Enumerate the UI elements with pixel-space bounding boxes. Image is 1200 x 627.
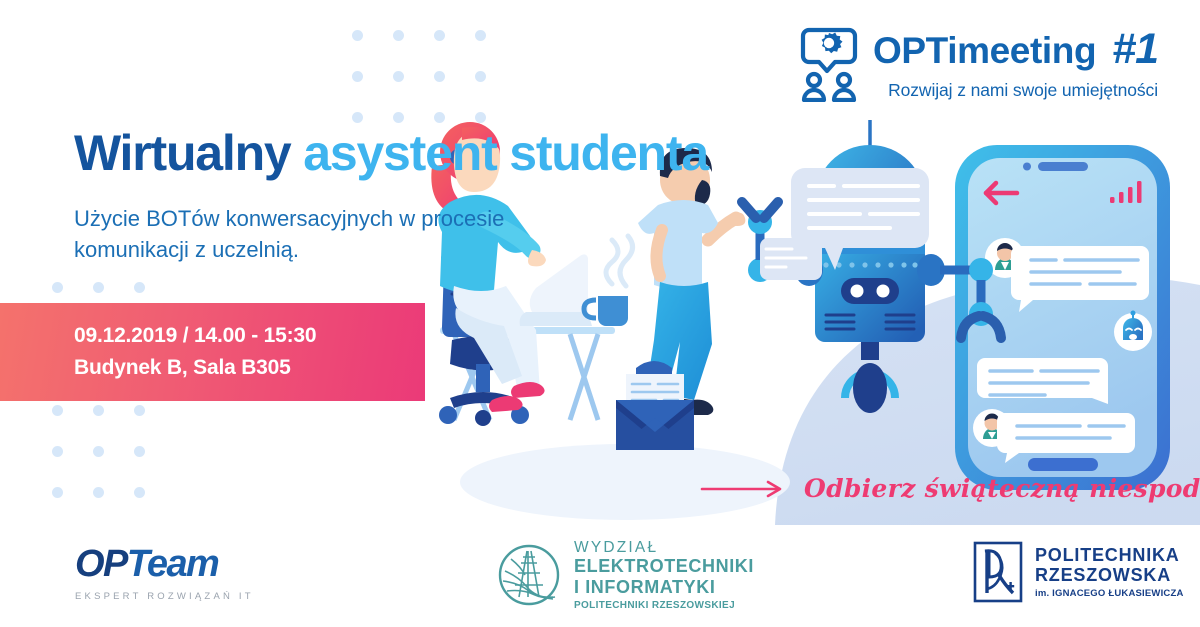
promo-note: Odbierz świąteczną niespodziankę [700, 474, 1200, 503]
subtitle: Użycie BOTów konwersacyjnych w procesie … [74, 203, 594, 265]
decor-dot [475, 30, 486, 41]
decor-dot [52, 405, 63, 416]
decor-dot [134, 446, 145, 457]
faculty-logo: WYDZIAŁ ELEKTROTECHNIKI I INFORMATYKI PO… [497, 539, 754, 611]
opteam-wordmark: OPTeam [75, 545, 256, 583]
decor-dot [393, 30, 404, 41]
faculty-line-1: WYDZIAŁ [574, 539, 754, 556]
brand-tagline: Rozwijaj z nami swoje umiejętności [873, 80, 1158, 101]
right-arrow-icon [700, 479, 788, 499]
event-datetime: 09.12.2019 / 14.00 - 15:30 [74, 320, 425, 352]
decor-dot [93, 405, 104, 416]
header-badge: OPTimeeting #1 Rozwijaj z nami swoje umi… [799, 22, 1158, 102]
event-poster: OPTimeeting #1 Rozwijaj z nami swoje umi… [0, 0, 1200, 627]
decor-dot [52, 282, 63, 293]
chat-bubble-outgoing [977, 358, 1108, 404]
faculty-text-block: WYDZIAŁ ELEKTROTECHNIKI I INFORMATYKI PO… [574, 539, 754, 611]
decor-dot [134, 282, 145, 293]
faculty-line-2: ELEKTROTECHNIKI [574, 556, 754, 576]
decor-dot [434, 71, 445, 82]
event-details-banner: 09.12.2019 / 14.00 - 15:30 Budynek B, Sa… [0, 303, 425, 401]
decor-dot [52, 446, 63, 457]
faculty-line-3: I INFORMATYKI [574, 577, 754, 597]
promo-text: Odbierz świąteczną niespodziankę [804, 474, 1200, 503]
opteam-tagline: EKSPERT ROZWIĄZAŃ IT [75, 591, 256, 602]
brand-line: OPTimeeting #1 [873, 28, 1158, 71]
decor-dot [352, 71, 363, 82]
decor-dot [352, 112, 363, 123]
university-logo: POLITECHNIKA RZESZOWSKA im. IGNACEGO ŁUK… [973, 541, 1184, 603]
university-line-3: im. IGNACEGO ŁUKASIEWICZA [1035, 589, 1184, 600]
headline-accent: asystent studenta [291, 125, 708, 181]
header-text-block: OPTimeeting #1 Rozwijaj z nami swoje umi… [873, 22, 1158, 101]
rzeszow-university-logo [973, 541, 1023, 603]
event-location: Budynek B, Sala B305 [74, 352, 425, 384]
envelope-documents-illustration [616, 361, 694, 450]
university-line-1: POLITECHNIKA [1035, 545, 1184, 566]
decor-dot [352, 30, 363, 41]
brand-edition: #1 [1112, 28, 1158, 71]
decor-dot [134, 487, 145, 498]
decor-dot [475, 71, 486, 82]
decor-dot [434, 30, 445, 41]
opteam-logo: OPTeam EKSPERT ROZWIĄZAŃ IT [75, 545, 256, 602]
headline-strong: Wirtualny [74, 125, 291, 181]
decor-dot [93, 487, 104, 498]
university-line-2: RZESZOWSKA [1035, 565, 1184, 586]
opteam-team: Team [127, 543, 218, 585]
decor-dot [393, 71, 404, 82]
dot-grid-top [352, 30, 482, 122]
opteam-op: OP [75, 543, 127, 585]
decor-dot [134, 405, 145, 416]
brand-name: OPTimeeting [873, 32, 1096, 69]
speech-bubble-gear-people-icon [799, 22, 859, 102]
decor-dot [93, 282, 104, 293]
faculty-pylon-logo [497, 543, 561, 607]
decor-dot [52, 487, 63, 498]
decor-dot [93, 446, 104, 457]
university-text-block: POLITECHNIKA RZESZOWSKA im. IGNACEGO ŁUK… [1035, 545, 1184, 600]
footer-logos: OPTeam EKSPERT ROZWIĄZAŃ IT WYDZIAŁ [0, 527, 1200, 627]
page-title: Wirtualny asystent studenta [74, 126, 708, 181]
decor-dot [393, 112, 404, 123]
faculty-line-4: POLITECHNIKI RZESZOWSKIEJ [574, 600, 754, 611]
